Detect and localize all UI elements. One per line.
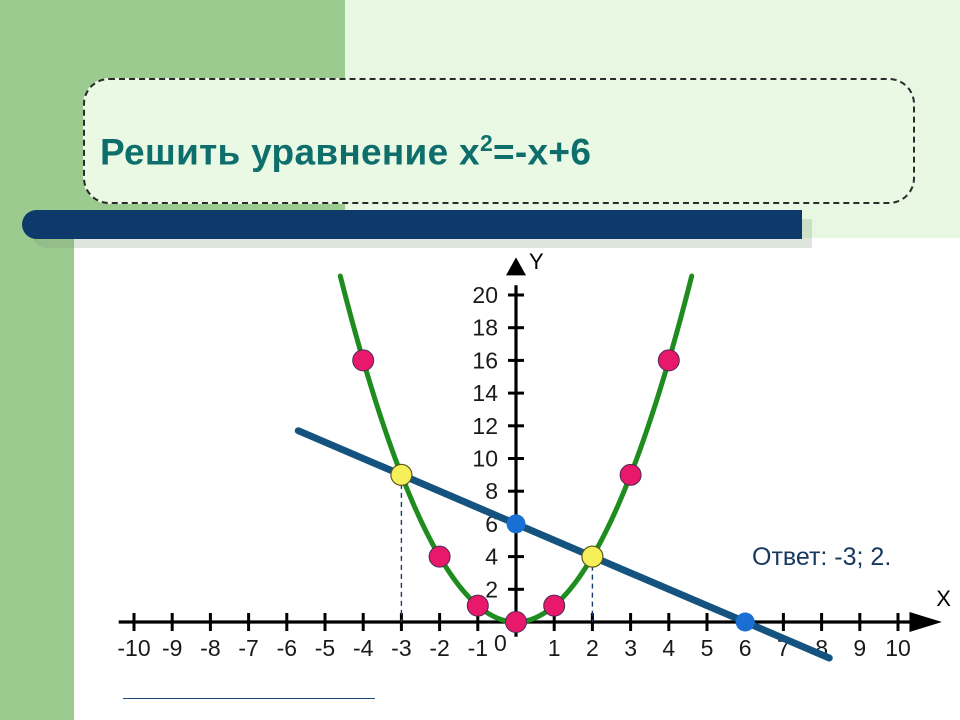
parabola-point-marker xyxy=(353,350,374,371)
x-tick-label: 9 xyxy=(853,635,866,661)
x-tick-label: -5 xyxy=(315,635,335,661)
y-tick-label: 16 xyxy=(472,347,498,373)
x-tick-label: 10 xyxy=(885,635,911,661)
graph-svg: XY-10-9-8-7-6-5-4-3-2-101234567891024681… xyxy=(0,238,960,720)
line-point-marker xyxy=(507,514,526,533)
x-tick-label: 6 xyxy=(739,635,752,661)
title-text-suffix: =-x+6 xyxy=(493,131,591,172)
x-tick-label: -3 xyxy=(391,635,411,661)
y-tick-label: 14 xyxy=(472,380,498,406)
x-tick-label: 5 xyxy=(701,635,714,661)
x-tick-label: -7 xyxy=(238,635,258,661)
x-axis-arrow-icon xyxy=(909,612,941,632)
x-tick-label-0: 0 xyxy=(494,630,507,656)
parabola-point-marker xyxy=(429,546,450,567)
title-exponent: 2 xyxy=(480,130,493,156)
y-tick-label: 2 xyxy=(485,576,498,602)
parabola-point-marker xyxy=(620,464,641,485)
title-text-prefix: Решить уравнение x xyxy=(100,131,480,172)
x-tick-label: -8 xyxy=(200,635,220,661)
x-axis-title: X xyxy=(936,586,951,611)
y-tick-label: 12 xyxy=(472,413,498,439)
intersection-point-marker xyxy=(391,464,412,485)
x-tick-label: 4 xyxy=(662,635,675,661)
line-point-marker xyxy=(736,613,755,632)
y-tick-label: 8 xyxy=(485,478,498,504)
y-axis-arrow-icon xyxy=(506,257,526,275)
x-tick-label: 3 xyxy=(624,635,637,661)
y-tick-label: 20 xyxy=(472,282,498,308)
parabola-point-marker xyxy=(544,595,565,616)
parabola-point-marker xyxy=(467,595,488,616)
x-tick-label: -2 xyxy=(429,635,449,661)
x-tick-label: -6 xyxy=(277,635,297,661)
x-tick-label: 2 xyxy=(586,635,599,661)
slide-canvas: Решить уравнение x2=-x+6 Ответ: -3; 2. X… xyxy=(0,0,960,720)
page-title: Решить уравнение x2=-x+6 xyxy=(100,130,900,173)
graph-figure: XY-10-9-8-7-6-5-4-3-2-101234567891024681… xyxy=(0,238,960,720)
y-tick-label: 10 xyxy=(472,446,498,472)
y-tick-label: 18 xyxy=(472,315,498,341)
parabola-point-marker xyxy=(658,350,679,371)
x-tick-label: -4 xyxy=(353,635,374,661)
y-tick-label: 4 xyxy=(485,544,498,570)
intersection-point-marker xyxy=(582,546,603,567)
parabola-point-marker xyxy=(506,612,527,633)
x-tick-label: -10 xyxy=(117,635,150,661)
x-tick-label: -1 xyxy=(468,635,488,661)
navy-accent-bar xyxy=(22,210,802,239)
y-axis-title: Y xyxy=(529,249,544,274)
x-tick-label: -9 xyxy=(162,635,182,661)
x-tick-label: 1 xyxy=(548,635,561,661)
